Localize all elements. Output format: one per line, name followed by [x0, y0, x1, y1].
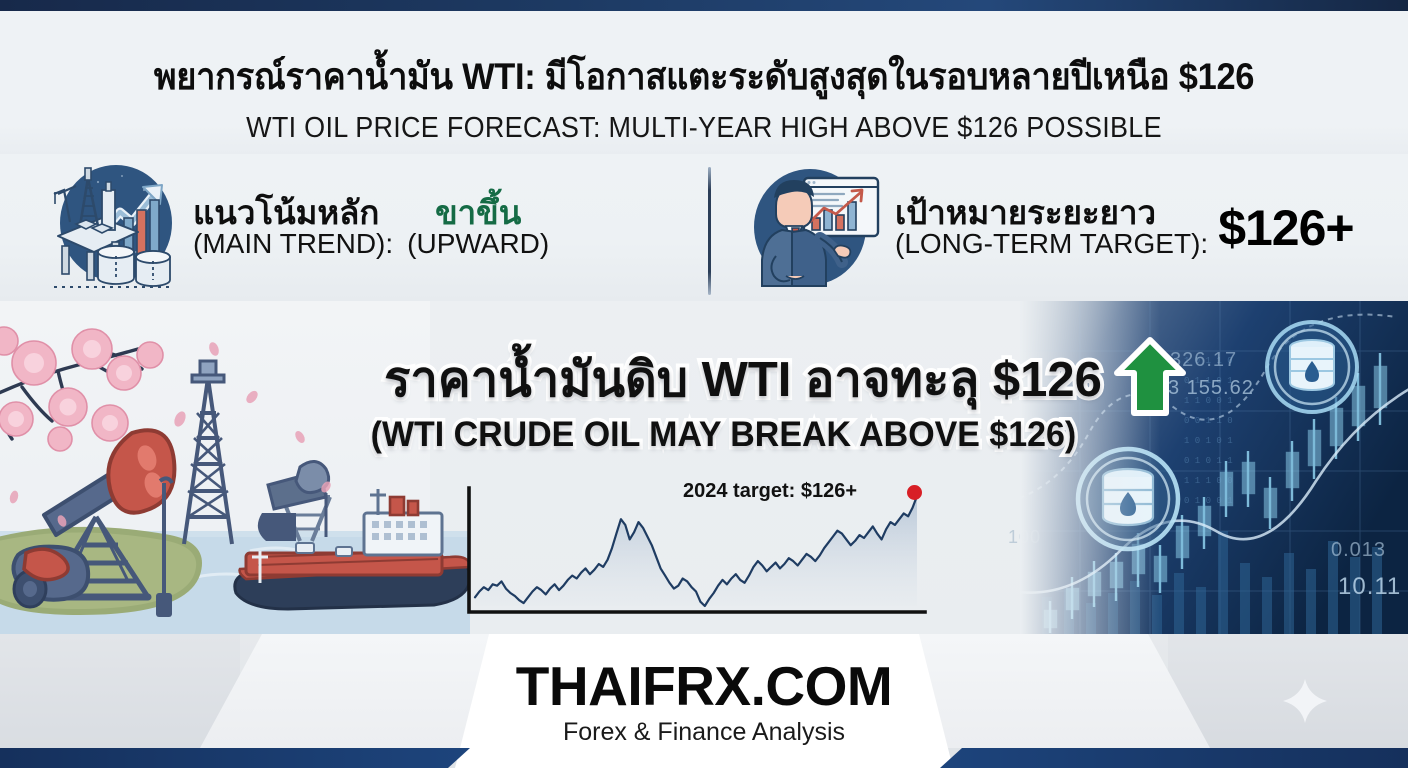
footer-bar-right — [940, 748, 1408, 768]
long-term-target-label-english: (LONG-TERM TARGET): — [895, 229, 1208, 259]
footer-left-panel — [0, 634, 240, 748]
long-term-target-label-thai: เป้าหมายระยะยาว — [895, 196, 1208, 231]
analyst-presenting-chart-icon — [742, 160, 887, 295]
stats-divider — [708, 167, 711, 295]
top-accent-bar — [0, 0, 1408, 11]
infographic-banner: พยากรณ์ราคาน้ำมัน WTI: มีโอกาสแตะระดับสู… — [0, 0, 1408, 768]
green-up-arrow-icon — [1114, 337, 1186, 417]
long-term-target-value: $126+ — [1218, 199, 1353, 257]
main-trend-value-thai: ขาขึ้น — [407, 196, 549, 231]
oil-rig-growth-icon — [40, 160, 185, 295]
price-sparkline-chart: 2024 target: $126+ — [455, 478, 935, 628]
footer-bar-left — [0, 748, 470, 768]
chart-target-label: 2024 target: $126+ — [683, 480, 857, 503]
chart-target-marker — [907, 485, 922, 500]
stat-long-term-target: เป้าหมายระยะยาว (LONG-TERM TARGET): $126… — [742, 160, 1354, 295]
footer-brand-name[interactable]: THAIFRX.COM — [455, 654, 953, 718]
main-trend-value-english: (UPWARD) — [407, 229, 549, 259]
hero-title-thai: ราคาน้ำมันดิบ WTI อาจทะลุ $126 — [0, 340, 1408, 418]
four-point-sparkle-icon — [1282, 678, 1328, 724]
header-title-english: WTI OIL PRICE FORECAST: MULTI-YEAR HIGH … — [49, 112, 1358, 145]
svg-text:0 1 0 0 1: 0 1 0 0 1 — [1184, 496, 1233, 506]
main-trend-labels: แนวโน้มหลัก (MAIN TREND): — [193, 196, 393, 259]
long-term-target-labels: เป้าหมายระยะยาว (LONG-TERM TARGET): — [895, 196, 1208, 259]
footer-tagline: Forex & Finance Analysis — [455, 718, 953, 747]
bg-number-3: 10.11 — [1338, 573, 1401, 601]
hero-title-english: (WTI CRUDE OIL MAY BREAK ABOVE $126) — [21, 415, 1387, 455]
main-trend-value: ขาขึ้น (UPWARD) — [407, 196, 549, 259]
main-trend-label-english: (MAIN TREND): — [193, 229, 393, 259]
main-trend-label-thai: แนวโน้มหลัก — [193, 196, 393, 231]
header-section: พยากรณ์ราคาน้ำมัน WTI: มีโอกาสแตะระดับสู… — [0, 11, 1408, 154]
bg-number-4: 0.013 — [1331, 539, 1386, 562]
stat-main-trend: แนวโน้มหลัก (MAIN TREND): ขาขึ้น (UPWARD… — [40, 160, 549, 295]
header-title-thai: พยากรณ์ราคาน้ำมัน WTI: มีโอกาสแตะระดับสู… — [49, 47, 1358, 106]
svg-text:1 1 1 0 0: 1 1 1 0 0 — [1184, 476, 1233, 486]
svg-text:0 1 0 1 1: 0 1 0 1 1 — [1184, 456, 1233, 466]
